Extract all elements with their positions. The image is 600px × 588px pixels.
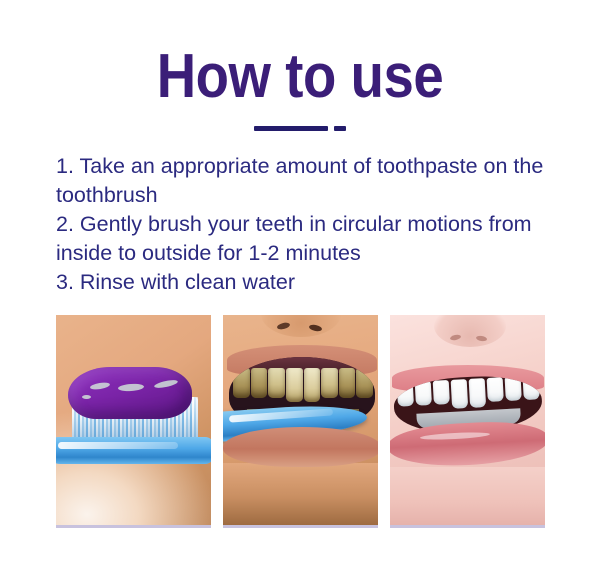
tooth: [251, 368, 268, 398]
stained-teeth-row: [233, 368, 373, 402]
panel-white-smile-result: [390, 315, 545, 528]
divider-bar: [254, 126, 328, 131]
tooth: [304, 368, 321, 402]
toothbrush-illustration: [56, 315, 211, 525]
white-teeth-row: [397, 375, 540, 412]
step-line-1: 1. Take an appropriate amount of toothpa…: [56, 152, 572, 181]
chin: [390, 467, 545, 525]
tooth: [468, 378, 486, 408]
tooth: [321, 368, 338, 398]
purple-toothpaste: [68, 367, 192, 419]
tooth: [504, 376, 522, 401]
page-title: How to use: [36, 46, 564, 108]
step-line-3: 2. Gently brush your teeth in circular m…: [56, 210, 572, 239]
tooth: [433, 380, 451, 405]
panel-stained-teeth-brushing: [223, 315, 378, 528]
image-panel-row: [56, 315, 545, 527]
handle-highlight: [58, 442, 178, 449]
tooth: [356, 368, 373, 398]
white-smile-illustration: [390, 315, 545, 525]
title-block: How to use: [0, 46, 600, 108]
step-line-4: inside to outside for 1-2 minutes: [56, 239, 572, 268]
tooth: [339, 368, 356, 398]
stained-teeth-illustration: [223, 315, 378, 525]
tooth: [286, 368, 303, 402]
step-line-2: toothbrush: [56, 181, 572, 210]
tooth: [522, 375, 540, 400]
tooth: [268, 368, 285, 398]
tooth: [397, 382, 415, 407]
step-line-5: 3. Rinse with clean water: [56, 268, 572, 297]
tooth: [233, 368, 250, 398]
tooth: [415, 381, 433, 406]
instruction-steps: 1. Take an appropriate amount of toothpa…: [56, 152, 572, 297]
panel-toothbrush-with-paste: [56, 315, 211, 528]
tooth: [450, 379, 468, 409]
lower-lip: [223, 427, 378, 467]
tooth: [486, 377, 504, 402]
divider-dash: [334, 126, 346, 131]
paste-highlight: [82, 395, 91, 399]
chin: [223, 463, 378, 525]
title-divider: [0, 126, 600, 131]
